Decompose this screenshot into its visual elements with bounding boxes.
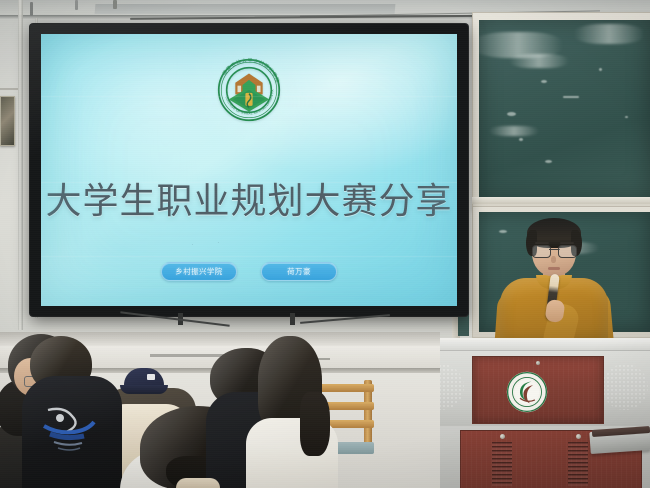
hoodie-graphic [38,404,100,458]
ceiling-hook [30,2,33,16]
speaker-person [494,218,614,350]
podium-vent [568,442,588,486]
chalk-rail [472,197,650,204]
podium-screw [576,434,581,439]
classroom-photo: ●●● [0,0,650,488]
speaker-eyebrow [560,242,574,244]
podium-crest-icon [505,370,549,414]
wall-conduit [18,0,23,330]
speaker-grille-icon [602,364,648,410]
speaker-mouth [548,267,560,270]
ceiling-soffit [95,4,396,14]
student-right-hair-strand [300,392,330,456]
ceiling-hook [75,0,78,10]
student-hand [176,478,220,488]
baseball-cap-icon [120,368,168,396]
speaker-nose [551,256,556,263]
lectern-podium [410,338,650,488]
podium-top-surface [410,338,650,351]
podium-screw [536,361,540,365]
slide-vignette [41,34,457,306]
ceiling-hook [113,0,117,9]
podium-screw [500,434,505,439]
speaker-eyebrow [535,242,549,244]
speaker-glasses-icon [532,245,577,256]
display-mount [290,313,295,325]
wall-seam [0,88,18,90]
wall-picture-panel [0,96,15,146]
chalkboard-upper [479,20,650,200]
presentation-slide: 福建农林大学乡村振兴学院 COLLEGE OF RURAL REVITALIZA… [41,34,457,306]
audience-group [0,332,440,488]
podium-vent [492,442,512,486]
